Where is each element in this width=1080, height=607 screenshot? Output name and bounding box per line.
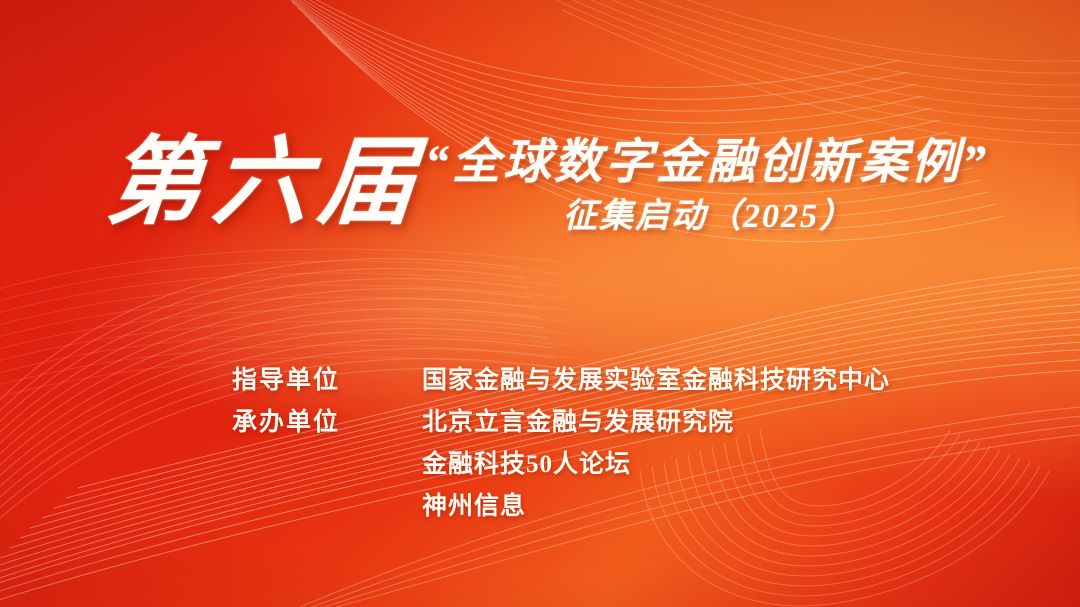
page-subtitle: 征集启动（2025） — [563, 188, 855, 237]
page-title-main: 第六届 — [102, 104, 432, 243]
list-item: 神州信息 — [232, 486, 890, 518]
list-item: 指导单位 国家金融与发展实验室金融科技研究中心 — [232, 360, 890, 392]
organization-value: 神州信息 — [422, 486, 526, 522]
poster-content: 第六届 “全球数字金融创新案例” 征集启动（2025） 指导单位 国家金融与发展… — [0, 0, 1080, 607]
page-title-quoted: “全球数字金融创新案例” — [425, 122, 989, 192]
organization-value: 金融科技50人论坛 — [422, 444, 631, 480]
organization-label: 承办单位 — [232, 402, 422, 438]
list-item: 承办单位 北京立言金融与发展研究院 — [232, 402, 890, 434]
organization-list: 指导单位 国家金融与发展实验室金融科技研究中心 承办单位 北京立言金融与发展研究… — [232, 360, 890, 518]
organization-label: 指导单位 — [232, 360, 422, 396]
organization-value: 北京立言金融与发展研究院 — [422, 402, 734, 438]
organization-value: 国家金融与发展实验室金融科技研究中心 — [422, 360, 890, 396]
event-poster: 第六届 “全球数字金融创新案例” 征集启动（2025） 指导单位 国家金融与发展… — [0, 0, 1080, 607]
list-item: 金融科技50人论坛 — [232, 444, 890, 476]
